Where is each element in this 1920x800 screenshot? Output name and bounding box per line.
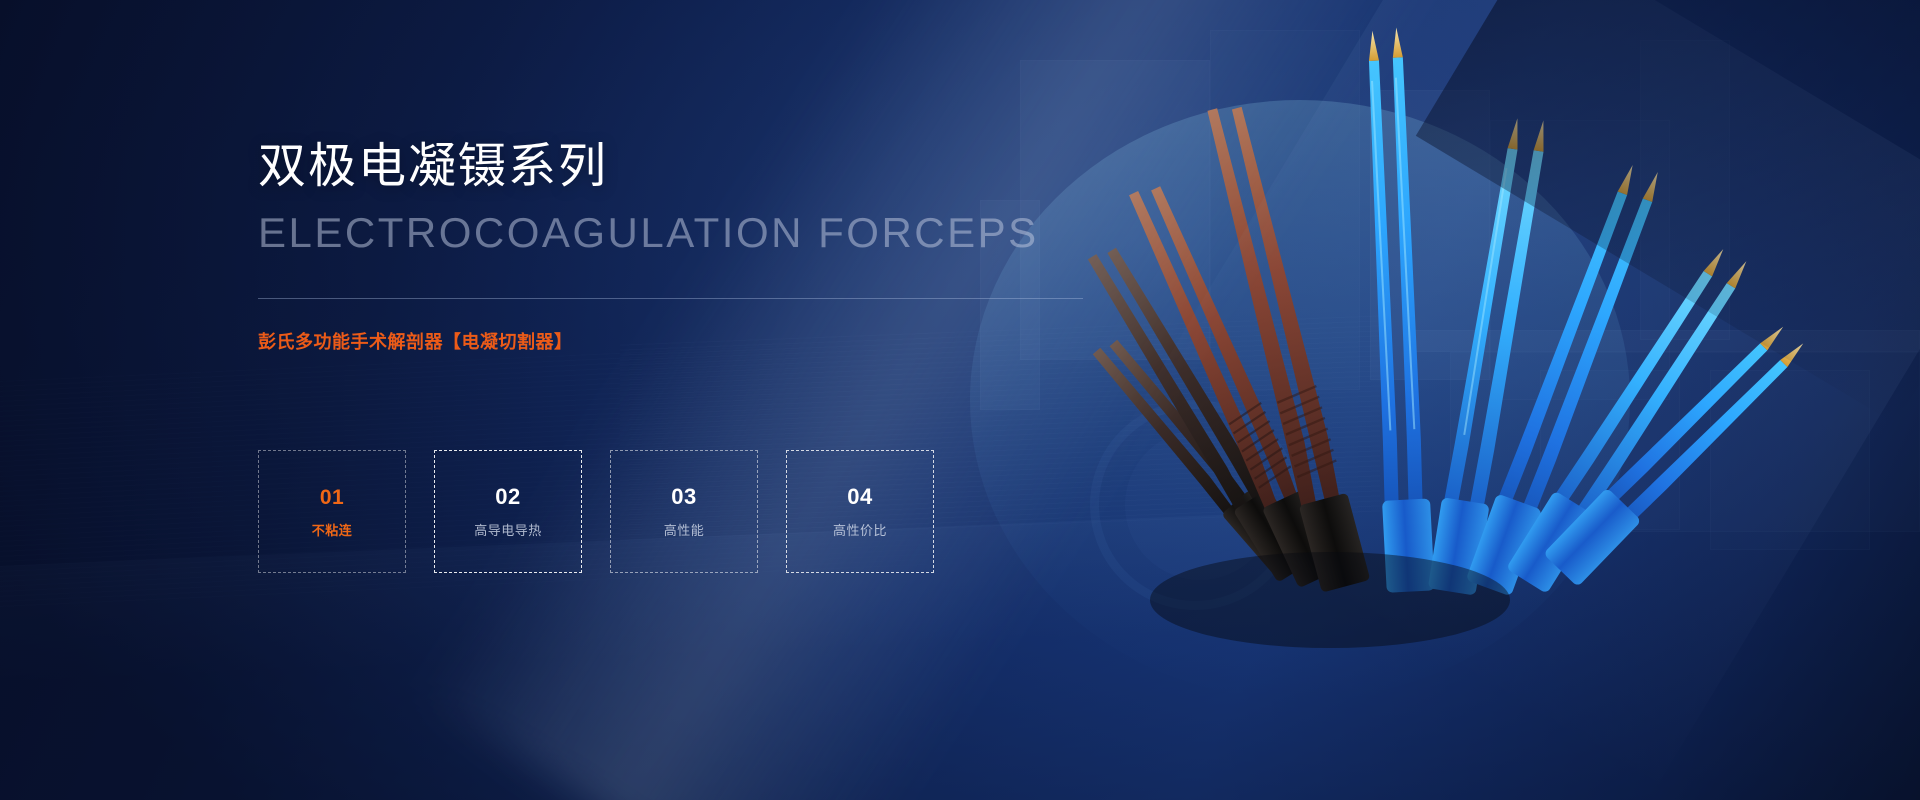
feature-label: 高性能 [664, 524, 705, 537]
banner-content: 双极电凝镊系列 ELECTROCOAGULATION FORCEPS 彭氏多功能… [258, 0, 1058, 800]
feature-label: 不粘连 [312, 524, 353, 537]
page-title-english: ELECTROCOAGULATION FORCEPS [258, 212, 1039, 254]
product-subtitle: 彭氏多功能手术解剖器【电凝切割器】 [258, 333, 573, 351]
feature-box-03[interactable]: 03 高性能 [610, 450, 758, 573]
feature-number: 01 [320, 487, 344, 508]
feature-number: 02 [495, 486, 520, 508]
title-divider [258, 298, 1083, 299]
feature-box-02[interactable]: 02 高导电导热 [434, 450, 582, 573]
feature-box-04[interactable]: 04 高性价比 [786, 450, 934, 573]
feature-label: 高导电导热 [474, 524, 542, 537]
product-banner: 双极电凝镊系列 ELECTROCOAGULATION FORCEPS 彭氏多功能… [0, 0, 1920, 800]
feature-number: 03 [671, 486, 696, 508]
feature-list: 01 不粘连 02 高导电导热 03 高性能 04 高性价比 [258, 450, 962, 573]
feature-number: 04 [847, 486, 872, 508]
feature-box-01[interactable]: 01 不粘连 [258, 450, 406, 573]
page-title-chinese: 双极电凝镊系列 [258, 143, 608, 191]
feature-label: 高性价比 [833, 524, 887, 537]
